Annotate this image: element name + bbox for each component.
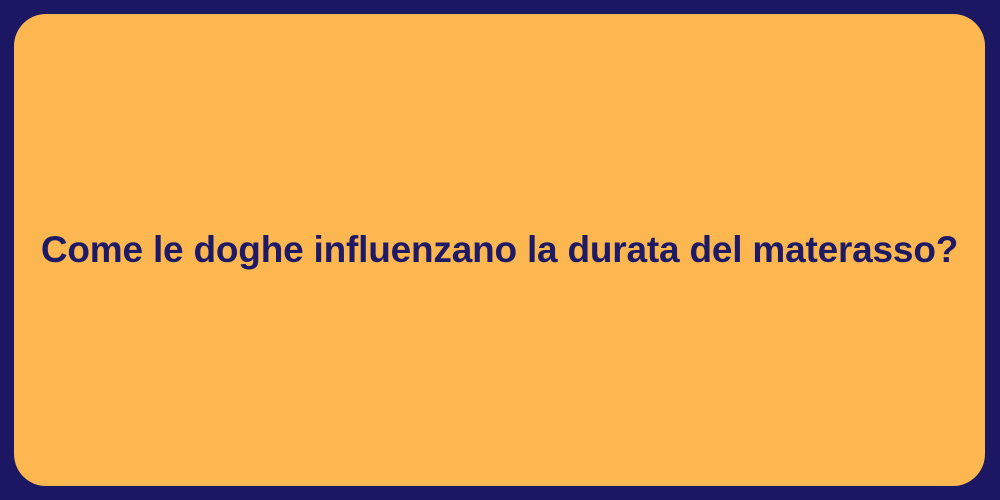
banner-panel: Come le doghe influenzano la durata del … xyxy=(14,14,985,486)
banner-frame: Come le doghe influenzano la durata del … xyxy=(0,0,1000,500)
banner-heading: Come le doghe influenzano la durata del … xyxy=(1,227,998,273)
